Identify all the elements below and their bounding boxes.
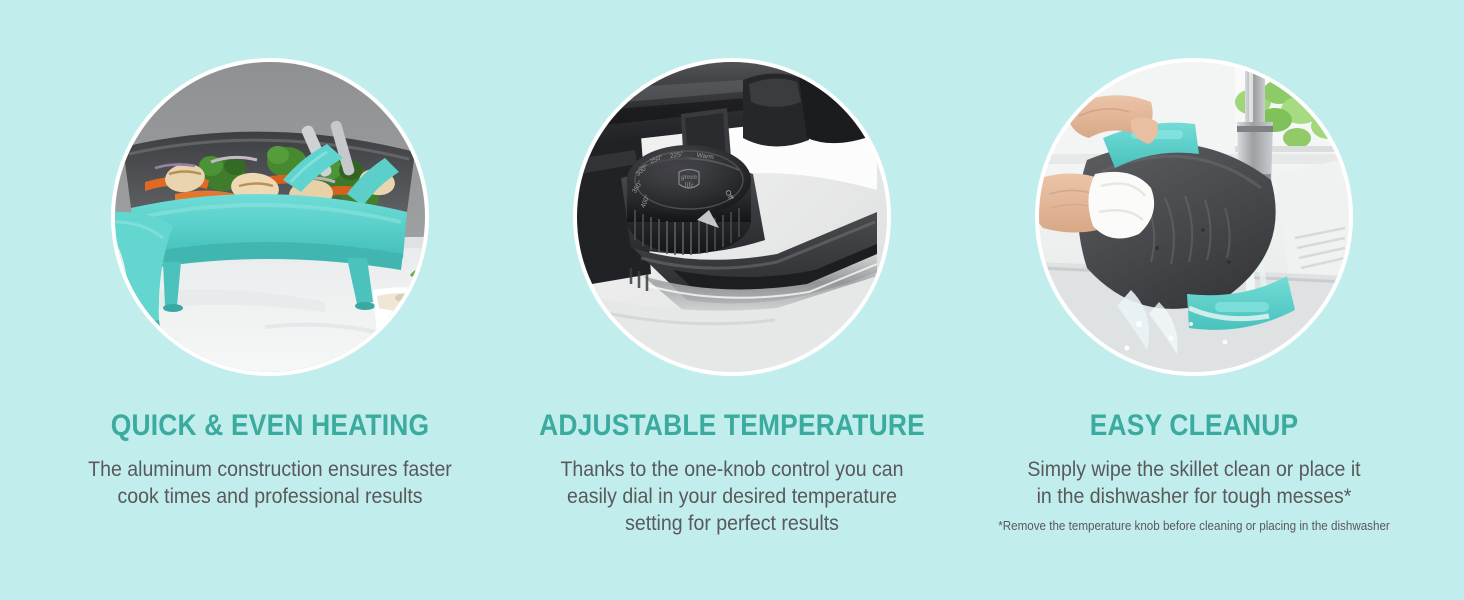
feature-description-line: The aluminum construction ensures faster	[88, 458, 452, 481]
feature-column-adjustable-temperature: green life Warm 225° 250° 300° 350° 400°…	[488, 0, 976, 600]
feature-description: The aluminum construction ensures faster…	[43, 456, 497, 510]
feature-image-ring-3	[1035, 58, 1353, 376]
feature-text-block-1: QUICK & EVEN HEATING The aluminum constr…	[26, 410, 514, 510]
svg-text:green: green	[681, 173, 697, 181]
svg-text:life: life	[685, 181, 694, 189]
temperature-control-knob-photo: green life Warm 225° 250° 300° 350° 400°…	[577, 62, 887, 372]
feature-description: Thanks to the one-knob control you can e…	[505, 456, 959, 537]
feature-description-line: setting for perfect results	[625, 512, 839, 535]
feature-column-easy-cleanup: EASY CLEANUP Simply wipe the skillet cle…	[950, 0, 1438, 600]
feature-description-line: cook times and professional results	[117, 485, 422, 508]
feature-description-line: Thanks to the one-knob control you can	[560, 458, 903, 481]
feature-title: QUICK & EVEN HEATING	[55, 410, 484, 442]
teal-electric-skillet-with-stir-fry-photo	[115, 62, 425, 372]
feature-footnote: *Remove the temperature knob before clea…	[967, 518, 1421, 534]
feature-image-ring-2: green life Warm 225° 250° 300° 350° 400°…	[573, 58, 891, 376]
feature-title: EASY CLEANUP	[979, 410, 1408, 442]
feature-column-quick-even-heating: QUICK & EVEN HEATING The aluminum constr…	[26, 0, 514, 600]
washing-skillet-under-faucet-photo	[1039, 62, 1349, 372]
feature-image-ring-1	[111, 58, 429, 376]
feature-title: ADJUSTABLE TEMPERATURE	[517, 410, 946, 442]
feature-description: Simply wipe the skillet clean or place i…	[967, 456, 1421, 510]
feature-text-block-3: EASY CLEANUP Simply wipe the skillet cle…	[950, 410, 1438, 534]
feature-text-block-2: ADJUSTABLE TEMPERATURE Thanks to the one…	[488, 410, 976, 537]
feature-description-line: in the dishwasher for tough messes*	[1037, 485, 1352, 508]
feature-description-line: easily dial in your desired temperature	[567, 485, 897, 508]
product-features-banner: QUICK & EVEN HEATING The aluminum constr…	[0, 0, 1464, 600]
feature-description-line: Simply wipe the skillet clean or place i…	[1027, 458, 1360, 481]
